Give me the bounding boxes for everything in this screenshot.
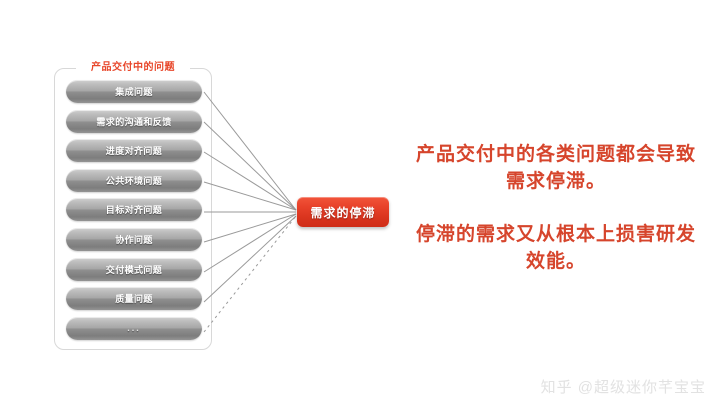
problem-pill-list: 集成问题 需求的沟通和反馈 进度对齐问题 公共环境问题 目标对齐问题 协作问题 … [66, 80, 202, 346]
connector-line [204, 182, 296, 210]
problem-pill-label: 目标对齐问题 [106, 203, 162, 216]
connector-line-dotted [204, 216, 296, 332]
stagnation-node-label: 需求的停滞 [310, 204, 375, 221]
problem-pill-label: 需求的沟通和反馈 [96, 115, 171, 128]
group-title: 产品交付中的问题 [74, 58, 192, 73]
problem-pill-label: 交付模式问题 [106, 263, 162, 276]
problem-pill-label: ... [127, 323, 141, 333]
problem-pill[interactable]: 进度对齐问题 [66, 139, 202, 162]
connector-line [204, 92, 296, 210]
watermark: 知乎 @超级迷你芊宝宝 [541, 376, 706, 397]
problem-pill-label: 质量问题 [115, 292, 153, 305]
message-paragraph-1: 产品交付中的各类问题都会导致需求停滞。 [410, 142, 702, 196]
connector-line [204, 214, 296, 242]
problem-group: 产品交付中的问题 集成问题 需求的沟通和反馈 进度对齐问题 公共环境问题 目标对… [54, 68, 212, 350]
connector-line [204, 216, 296, 302]
problem-pill[interactable]: 目标对齐问题 [66, 198, 202, 221]
connector-line [204, 214, 296, 272]
problem-pill-label: 进度对齐问题 [106, 144, 162, 157]
problem-pill[interactable]: 交付模式问题 [66, 258, 202, 281]
problem-pill[interactable]: 集成问题 [66, 80, 202, 103]
problem-pill[interactable]: 质量问题 [66, 287, 202, 310]
problem-pill-more[interactable]: ... [66, 317, 202, 340]
message-paragraph-2: 停滞的需求又从根本上损害研发效能。 [410, 222, 702, 276]
problem-pill-label: 协作问题 [115, 233, 153, 246]
message-block: 产品交付中的各类问题都会导致需求停滞。 停滞的需求又从根本上损害研发效能。 [410, 142, 702, 276]
problem-pill[interactable]: 协作问题 [66, 228, 202, 251]
problem-pill[interactable]: 公共环境问题 [66, 169, 202, 192]
problem-pill-label: 集成问题 [115, 85, 153, 98]
stagnation-node[interactable]: 需求的停滞 [297, 197, 389, 227]
problem-pill-label: 公共环境问题 [106, 174, 162, 187]
problem-pill[interactable]: 需求的沟通和反馈 [66, 110, 202, 133]
connector-line [204, 122, 296, 210]
connector-line [204, 152, 296, 210]
